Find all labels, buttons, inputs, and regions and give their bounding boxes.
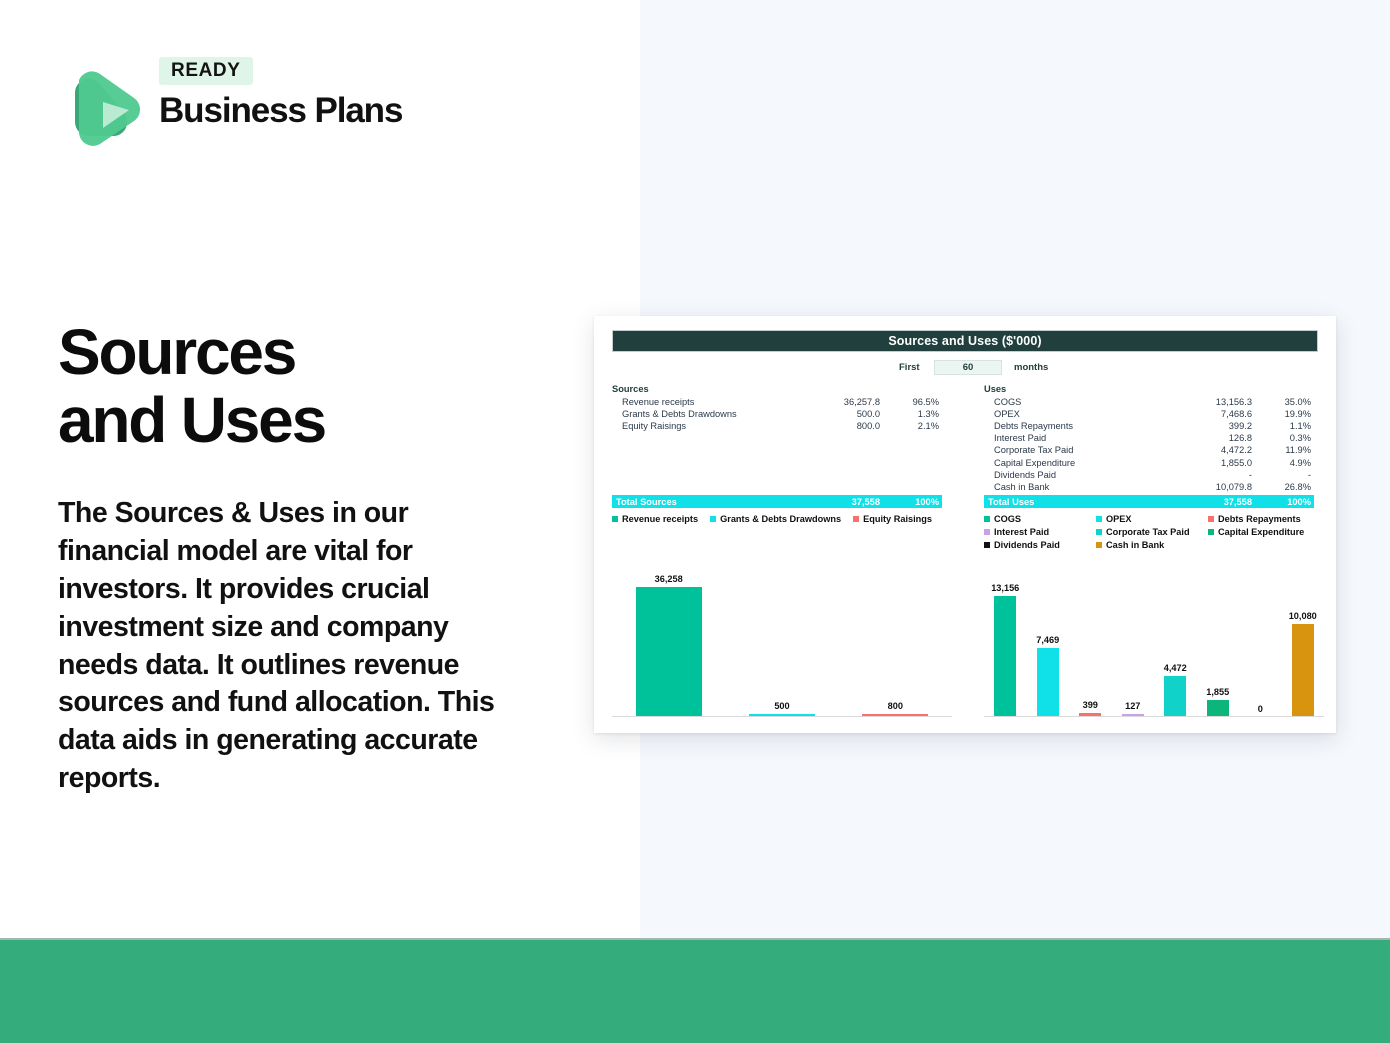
row-label: Revenue receipts [612, 397, 800, 407]
row-label: Equity Raisings [612, 421, 800, 431]
legend-item: COGS [984, 514, 1096, 524]
row-percent: 1.1% [1252, 421, 1314, 431]
bar-data-label: 36,258 [655, 575, 683, 584]
legend-label: Revenue receipts [622, 514, 698, 524]
bar-slot: 1,855 [1197, 565, 1240, 717]
total-value: 37,558 [1172, 497, 1252, 507]
bar[interactable] [1292, 624, 1314, 717]
legend-label: Capital Expenditure [1218, 527, 1304, 537]
row-value: 1,855.0 [1172, 458, 1252, 468]
bar-data-label: 127 [1125, 702, 1140, 711]
bar-data-label: 800 [888, 702, 903, 711]
legend-item: Revenue receipts [612, 514, 698, 524]
page-description: The Sources & Uses in our financial mode… [58, 495, 504, 798]
legend-item: Corporate Tax Paid [1096, 527, 1208, 537]
bar-data-label: 399 [1083, 701, 1098, 710]
legend-swatch-icon [612, 516, 618, 522]
row-label: COGS [984, 397, 1172, 407]
row-value: 4,472.2 [1172, 445, 1252, 455]
legend-item: Capital Expenditure [1208, 527, 1324, 537]
brand-wordmark: Business Plans [159, 92, 489, 130]
bar-data-label: 13,156 [991, 584, 1019, 593]
uses-heading: Uses [984, 384, 1314, 396]
row-label: Capital Expenditure [984, 458, 1172, 468]
row-percent: 35.0% [1252, 397, 1314, 407]
legend-label: COGS [994, 514, 1021, 524]
bar-slot: 0 [1239, 565, 1282, 717]
legend-label: Debts Repayments [1218, 514, 1301, 524]
total-percent: 100% [1252, 497, 1314, 507]
legend-item: Grants & Debts Drawdowns [710, 514, 841, 524]
row-value: 126.8 [1172, 433, 1252, 443]
row-label: Dividends Paid [984, 470, 1172, 480]
table-row: Corporate Tax Paid 4,472.2 11.9% [984, 444, 1314, 456]
row-label: Interest Paid [984, 433, 1172, 443]
table-row: Dividends Paid - - [984, 469, 1314, 481]
spreadsheet-card: Sources and Uses ($'000) First 60 months… [594, 316, 1336, 733]
row-value: 399.2 [1172, 421, 1252, 431]
bar-slot: 4,472 [1154, 565, 1197, 717]
row-value: 800.0 [800, 421, 880, 431]
row-value: 7,468.6 [1172, 409, 1252, 419]
sheet-title-bar: Sources and Uses ($'000) [612, 330, 1318, 352]
sheet-title: Sources and Uses ($'000) [888, 334, 1041, 348]
total-uses-row: Total Uses 37,558 100% [984, 495, 1314, 508]
bar[interactable] [994, 596, 1016, 717]
bar[interactable] [1207, 700, 1229, 717]
table-row: Capital Expenditure 1,855.0 4.9% [984, 456, 1314, 468]
legend-label: Interest Paid [994, 527, 1049, 537]
period-selector-row: First 60 months [612, 359, 1318, 376]
play-triangle-logo-icon [57, 60, 149, 152]
total-value: 37,558 [800, 497, 880, 507]
page-title-line-2: and Uses [58, 386, 578, 454]
row-value: 500.0 [800, 409, 880, 419]
total-label: Total Sources [612, 497, 800, 507]
uses-table: Uses COGS 13,156.3 35.0% OPEX 7,468.6 19… [984, 384, 1314, 493]
bar-data-label: 500 [774, 702, 789, 711]
row-percent: 1.3% [880, 409, 942, 419]
sources-heading: Sources [612, 384, 942, 396]
legend-swatch-icon [710, 516, 716, 522]
legend-swatch-icon [1208, 516, 1214, 522]
row-percent: - [1252, 470, 1314, 480]
row-percent: 26.8% [1252, 482, 1314, 492]
uses-bar-chart: 13,1567,4693991274,4721,855010,080 [984, 547, 1324, 717]
legend-label: Corporate Tax Paid [1106, 527, 1190, 537]
uses-axis-line [984, 716, 1324, 717]
total-percent: 100% [880, 497, 942, 507]
bar-slot: 10,080 [1282, 565, 1325, 717]
period-prefix-label: First [899, 362, 920, 373]
legend-swatch-icon [984, 516, 990, 522]
total-label: Total Uses [984, 497, 1172, 507]
table-row: COGS 13,156.3 35.0% [984, 396, 1314, 408]
legend-item: Interest Paid [984, 527, 1096, 537]
row-value: 36,257.8 [800, 397, 880, 407]
table-row: Grants & Debts Drawdowns 500.0 1.3% [612, 408, 942, 420]
uses-chart-legend: COGSOPEXDebts RepaymentsInterest PaidCor… [984, 514, 1324, 550]
legend-label: Grants & Debts Drawdowns [720, 514, 841, 524]
brand-logo-text: READY Business Plans [159, 57, 489, 130]
legend-swatch-icon [1208, 529, 1214, 535]
period-months-input[interactable]: 60 [934, 360, 1002, 375]
bar-data-label: 4,472 [1164, 664, 1187, 673]
sources-and-uses-sheet: Sources and Uses ($'000) First 60 months… [594, 316, 1336, 733]
row-value: 13,156.3 [1172, 397, 1252, 407]
legend-swatch-icon [1096, 529, 1102, 535]
bar-data-label: 7,469 [1036, 636, 1059, 645]
table-row: Interest Paid 126.8 0.3% [984, 432, 1314, 444]
sources-chart-legend: Revenue receiptsGrants & Debts Drawdowns… [612, 514, 952, 524]
sources-plot-area: 36,258500800 [612, 565, 952, 717]
legend-swatch-icon [984, 529, 990, 535]
bar-data-label: 1,855 [1206, 688, 1229, 697]
row-label: Debts Repayments [984, 421, 1172, 431]
row-label: OPEX [984, 409, 1172, 419]
legend-item: OPEX [1096, 514, 1208, 524]
bar[interactable] [1037, 648, 1059, 717]
bar-slot: 800 [839, 565, 952, 717]
legend-swatch-icon [853, 516, 859, 522]
legend-item: Debts Repayments [1208, 514, 1324, 524]
bar-slot: 500 [725, 565, 838, 717]
bar-slot: 399 [1069, 565, 1112, 717]
page-title: Sources and Uses [58, 318, 578, 455]
page-title-line-1: Sources [58, 318, 578, 386]
bar-slot: 36,258 [612, 565, 725, 717]
sources-table: Sources Revenue receipts 36,257.8 96.5% … [612, 384, 942, 432]
total-sources-row: Total Sources 37,558 100% [612, 495, 942, 508]
bar-slot: 127 [1112, 565, 1155, 717]
bar[interactable] [636, 587, 702, 717]
row-percent: 0.3% [1252, 433, 1314, 443]
table-row: Debts Repayments 399.2 1.1% [984, 420, 1314, 432]
bar-slot: 7,469 [1027, 565, 1070, 717]
bar-data-label: 10,080 [1289, 612, 1317, 621]
table-row: Cash in Bank 10,079.8 26.8% [984, 481, 1314, 493]
legend-label: OPEX [1106, 514, 1132, 524]
row-percent: 19.9% [1252, 409, 1314, 419]
footer-green-band [0, 940, 1390, 1043]
table-row: Equity Raisings 800.0 2.1% [612, 420, 942, 432]
row-percent: 4.9% [1252, 458, 1314, 468]
bar-data-label: 0 [1258, 705, 1263, 714]
sources-axis-line [612, 716, 952, 717]
legend-item: Equity Raisings [853, 514, 932, 524]
legend-label: Equity Raisings [863, 514, 932, 524]
row-label: Cash in Bank [984, 482, 1172, 492]
brand-logo[interactable]: READY Business Plans [57, 57, 437, 157]
row-label: Corporate Tax Paid [984, 445, 1172, 455]
row-percent: 11.9% [1252, 445, 1314, 455]
uses-plot-area: 13,1567,4693991274,4721,855010,080 [984, 565, 1324, 717]
row-label: Grants & Debts Drawdowns [612, 409, 800, 419]
sources-bar-chart: 36,258500800 [612, 547, 952, 717]
row-value: 10,079.8 [1172, 482, 1252, 492]
bar[interactable] [1164, 676, 1186, 717]
table-row: Revenue receipts 36,257.8 96.5% [612, 396, 942, 408]
row-percent: 96.5% [880, 397, 942, 407]
period-suffix-label: months [1014, 362, 1048, 373]
table-row: OPEX 7,468.6 19.9% [984, 408, 1314, 420]
row-value: - [1172, 470, 1252, 480]
row-percent: 2.1% [880, 421, 942, 431]
bar-slot: 13,156 [984, 565, 1027, 717]
ready-badge: READY [159, 57, 253, 85]
legend-swatch-icon [1096, 516, 1102, 522]
